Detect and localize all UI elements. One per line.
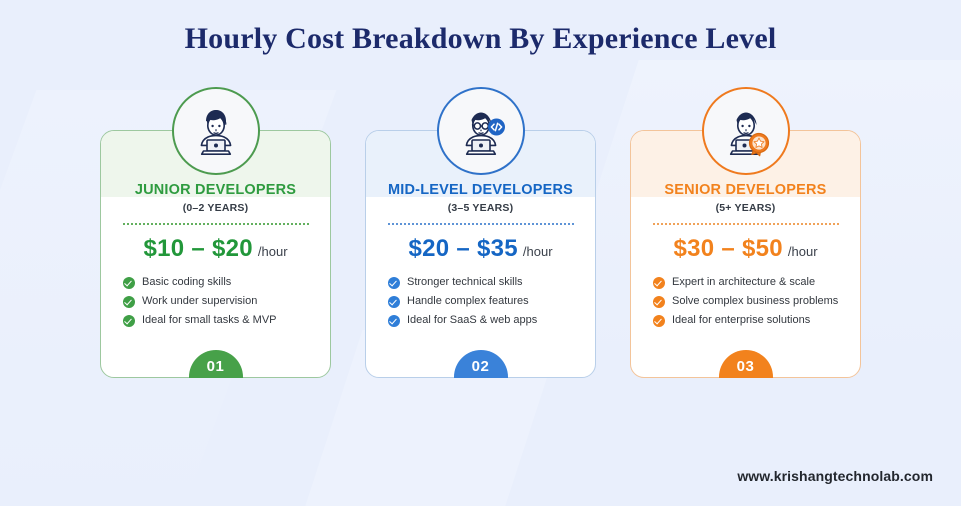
card-body: SENIOR DEVELOPERS (5+ YEARS) $30 – $50 /… bbox=[631, 183, 860, 334]
check-circle-icon bbox=[388, 277, 400, 289]
card-number-badge: 01 bbox=[189, 350, 243, 378]
pricing-card-group: JUNIOR DEVELOPERS (0–2 YEARS) $10 – $20 … bbox=[100, 130, 861, 378]
card-years-range: (0–2 YEARS) bbox=[101, 202, 330, 214]
card-body: JUNIOR DEVELOPERS (0–2 YEARS) $10 – $20 … bbox=[101, 183, 330, 334]
pricing-card-senior: SENIOR DEVELOPERS (5+ YEARS) $30 – $50 /… bbox=[630, 130, 861, 378]
feature-text: Solve complex business problems bbox=[672, 295, 838, 308]
footer-website-url: www.krishangtechnolab.com bbox=[737, 468, 933, 484]
feature-text: Ideal for SaaS & web apps bbox=[407, 314, 537, 327]
card-price: $20 – $35 bbox=[408, 235, 517, 263]
page-title: Hourly Cost Breakdown By Experience Leve… bbox=[0, 22, 961, 56]
developer-avatar-award-icon bbox=[702, 87, 790, 175]
list-item: Ideal for small tasks & MVP bbox=[123, 314, 330, 327]
check-circle-icon bbox=[388, 296, 400, 308]
card-price-unit: /hour bbox=[788, 244, 818, 259]
dotted-divider bbox=[653, 223, 839, 225]
check-circle-icon bbox=[123, 296, 135, 308]
list-item: Ideal for SaaS & web apps bbox=[388, 314, 595, 327]
card-price-row: $10 – $20 /hour bbox=[101, 235, 330, 263]
card-number-badge: 02 bbox=[454, 350, 508, 378]
list-item: Expert in architecture & scale bbox=[653, 276, 860, 289]
card-price-unit: /hour bbox=[523, 244, 553, 259]
card-body: MID-LEVEL DEVELOPERS (3–5 YEARS) $20 – $… bbox=[366, 183, 595, 334]
check-circle-icon bbox=[388, 315, 400, 327]
card-years-range: (3–5 YEARS) bbox=[366, 202, 595, 214]
feature-text: Stronger technical skills bbox=[407, 276, 523, 289]
card-feature-list: Stronger technical skills Handle complex… bbox=[366, 276, 595, 328]
check-circle-icon bbox=[123, 277, 135, 289]
feature-text: Work under supervision bbox=[142, 295, 257, 308]
card-price-row: $30 – $50 /hour bbox=[631, 235, 860, 263]
feature-text: Handle complex features bbox=[407, 295, 529, 308]
pricing-card-mid-level: MID-LEVEL DEVELOPERS (3–5 YEARS) $20 – $… bbox=[365, 130, 596, 378]
list-item: Solve complex business problems bbox=[653, 295, 860, 308]
pricing-card-junior: JUNIOR DEVELOPERS (0–2 YEARS) $10 – $20 … bbox=[100, 130, 331, 378]
developer-avatar-glasses-code-icon bbox=[437, 87, 525, 175]
check-circle-icon bbox=[653, 277, 665, 289]
card-feature-list: Expert in architecture & scale Solve com… bbox=[631, 276, 860, 328]
feature-text: Ideal for small tasks & MVP bbox=[142, 314, 277, 327]
developer-avatar-icon bbox=[172, 87, 260, 175]
check-circle-icon bbox=[653, 315, 665, 327]
feature-text: Expert in architecture & scale bbox=[672, 276, 815, 289]
dotted-divider bbox=[388, 223, 574, 225]
list-item: Basic coding skills bbox=[123, 276, 330, 289]
card-years-range: (5+ YEARS) bbox=[631, 202, 860, 214]
card-price: $10 – $20 bbox=[143, 235, 252, 263]
feature-text: Basic coding skills bbox=[142, 276, 231, 289]
list-item: Ideal for enterprise solutions bbox=[653, 314, 860, 327]
card-number-badge: 03 bbox=[719, 350, 773, 378]
list-item: Stronger technical skills bbox=[388, 276, 595, 289]
card-role-title: SENIOR DEVELOPERS bbox=[631, 183, 860, 199]
infographic-page: Hourly Cost Breakdown By Experience Leve… bbox=[0, 0, 961, 506]
check-circle-icon bbox=[653, 296, 665, 308]
card-price: $30 – $50 bbox=[673, 235, 782, 263]
list-item: Work under supervision bbox=[123, 295, 330, 308]
feature-text: Ideal for enterprise solutions bbox=[672, 314, 810, 327]
check-circle-icon bbox=[123, 315, 135, 327]
card-price-row: $20 – $35 /hour bbox=[366, 235, 595, 263]
card-price-unit: /hour bbox=[258, 244, 288, 259]
card-feature-list: Basic coding skills Work under supervisi… bbox=[101, 276, 330, 328]
card-role-title: MID-LEVEL DEVELOPERS bbox=[366, 183, 595, 199]
list-item: Handle complex features bbox=[388, 295, 595, 308]
dotted-divider bbox=[123, 223, 309, 225]
card-role-title: JUNIOR DEVELOPERS bbox=[101, 183, 330, 199]
